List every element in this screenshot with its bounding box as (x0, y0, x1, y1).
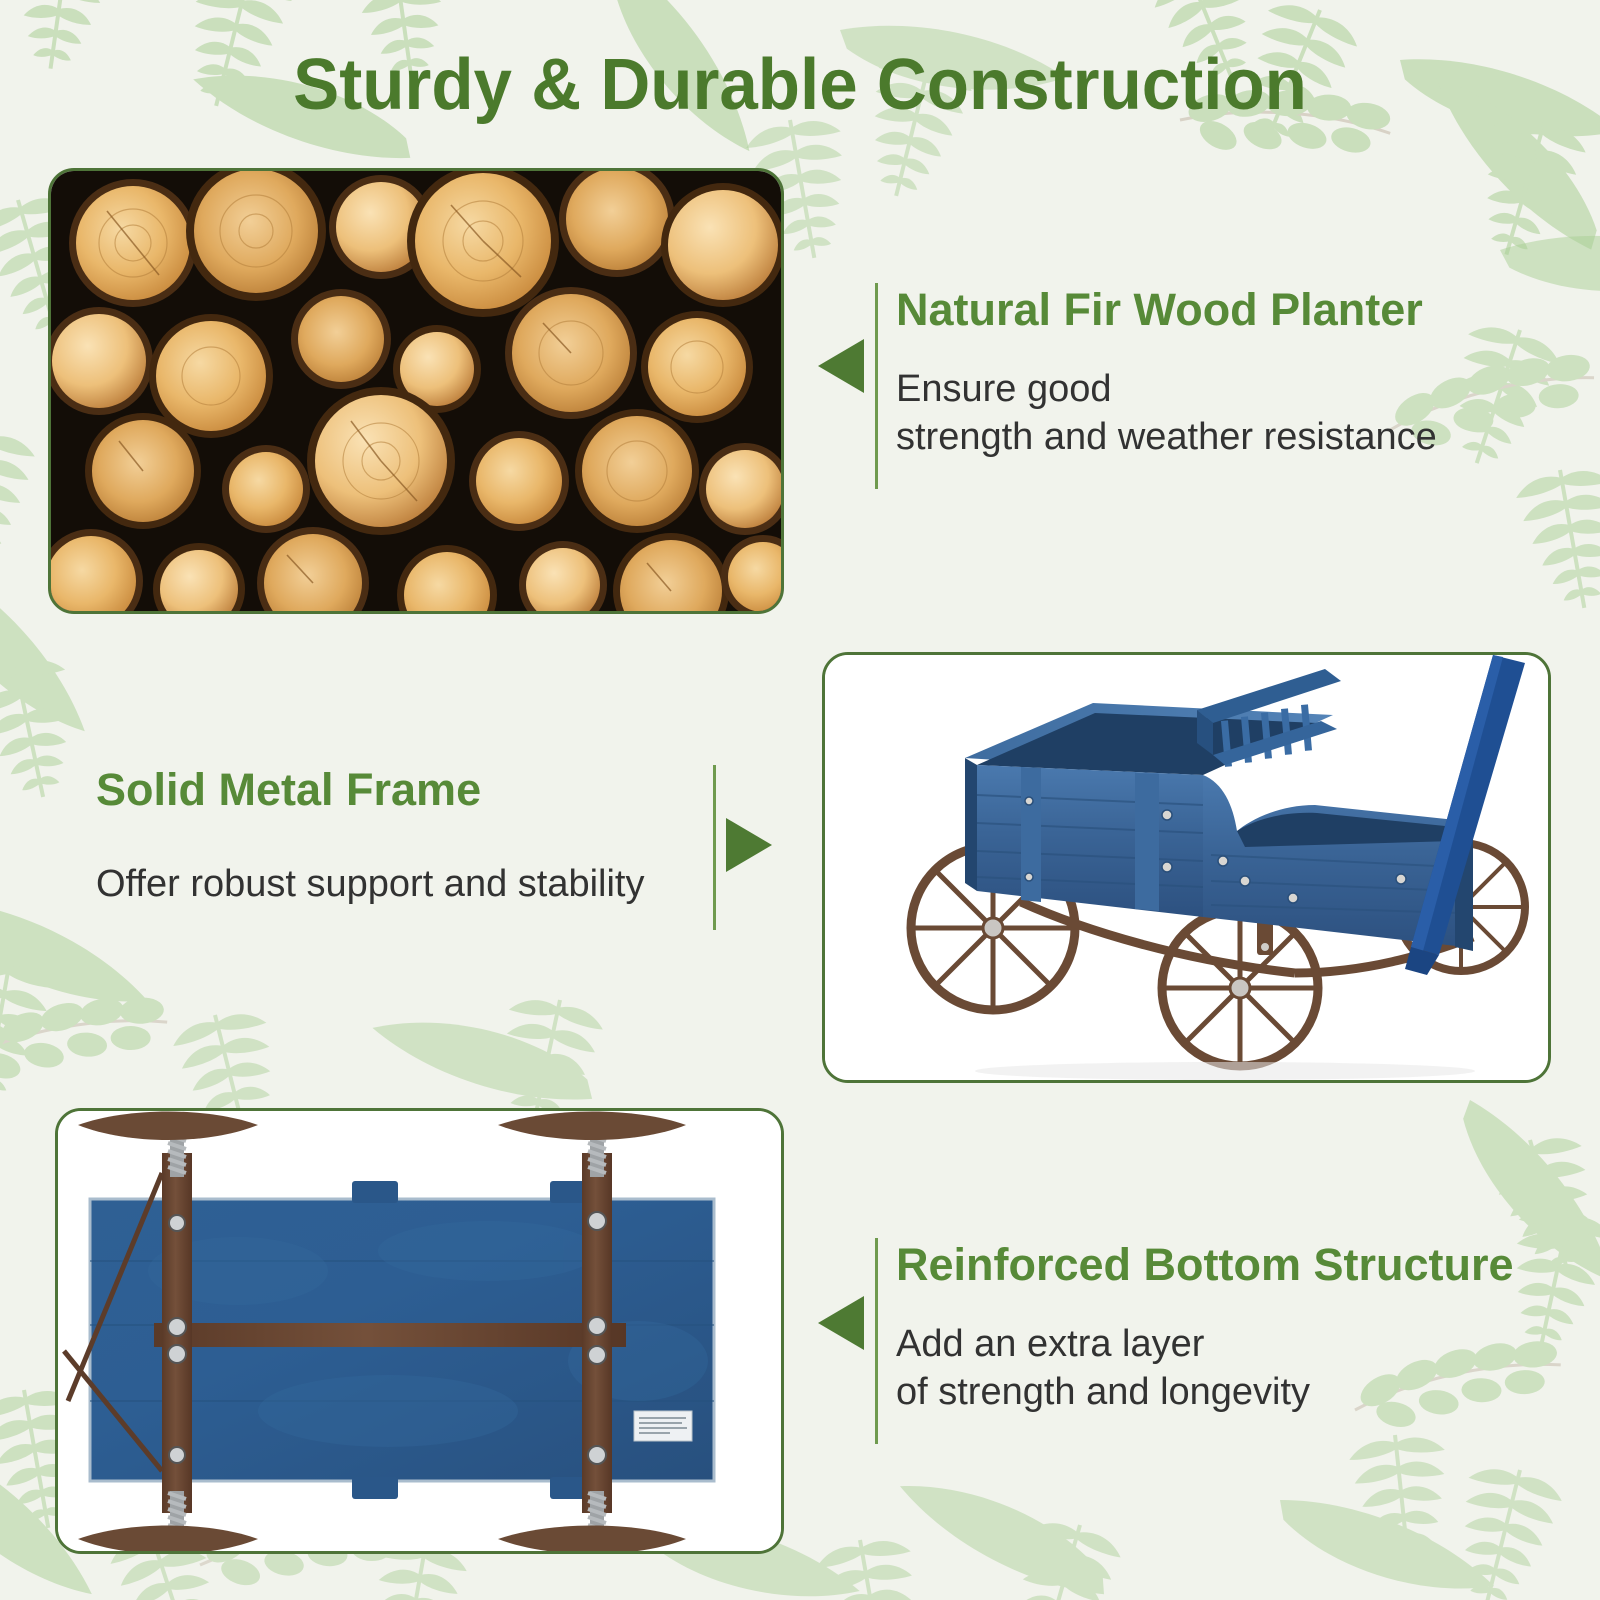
feature-divider-line (713, 765, 716, 930)
feature-divider-line (875, 283, 878, 489)
feature-heading: Solid Metal Frame (96, 765, 696, 815)
page-title: Sturdy & Durable Construction (32, 44, 1568, 126)
infographic-page: Sturdy & Durable Construction (0, 0, 1600, 1600)
blue-wagon-planter-illustration (825, 655, 1548, 1080)
feature-body: Ensure good strength and weather resista… (896, 365, 1508, 462)
wagon-underside-photo-panel (55, 1108, 784, 1554)
feature-text-group: Solid Metal Frame Offer robust support a… (96, 765, 696, 908)
wagon-underside-illustration (58, 1111, 781, 1551)
feature-text-group: Reinforced Bottom Structure Add an extra… (896, 1238, 1588, 1417)
triangle-left-icon (818, 339, 864, 393)
feature-natural-fir-wood-planter: Natural Fir Wood Planter Ensure good str… (808, 283, 1508, 462)
feature-heading: Natural Fir Wood Planter (896, 285, 1508, 335)
feature-body: Offer robust support and stability (96, 860, 696, 909)
feature-solid-metal-frame: Solid Metal Frame Offer robust support a… (96, 765, 786, 908)
feature-text-group: Natural Fir Wood Planter Ensure good str… (896, 283, 1508, 462)
stacked-logs-photo-panel (48, 168, 784, 614)
feature-divider-line (875, 1238, 878, 1444)
triangle-left-icon (818, 1296, 864, 1350)
blue-wagon-planter-photo-panel (822, 652, 1551, 1083)
stacked-logs-illustration (51, 171, 781, 611)
feature-heading: Reinforced Bottom Structure (896, 1240, 1588, 1290)
feature-body: Add an extra layer of strength and longe… (896, 1320, 1588, 1417)
feature-reinforced-bottom-structure: Reinforced Bottom Structure Add an extra… (808, 1238, 1588, 1417)
triangle-right-icon (726, 818, 772, 872)
